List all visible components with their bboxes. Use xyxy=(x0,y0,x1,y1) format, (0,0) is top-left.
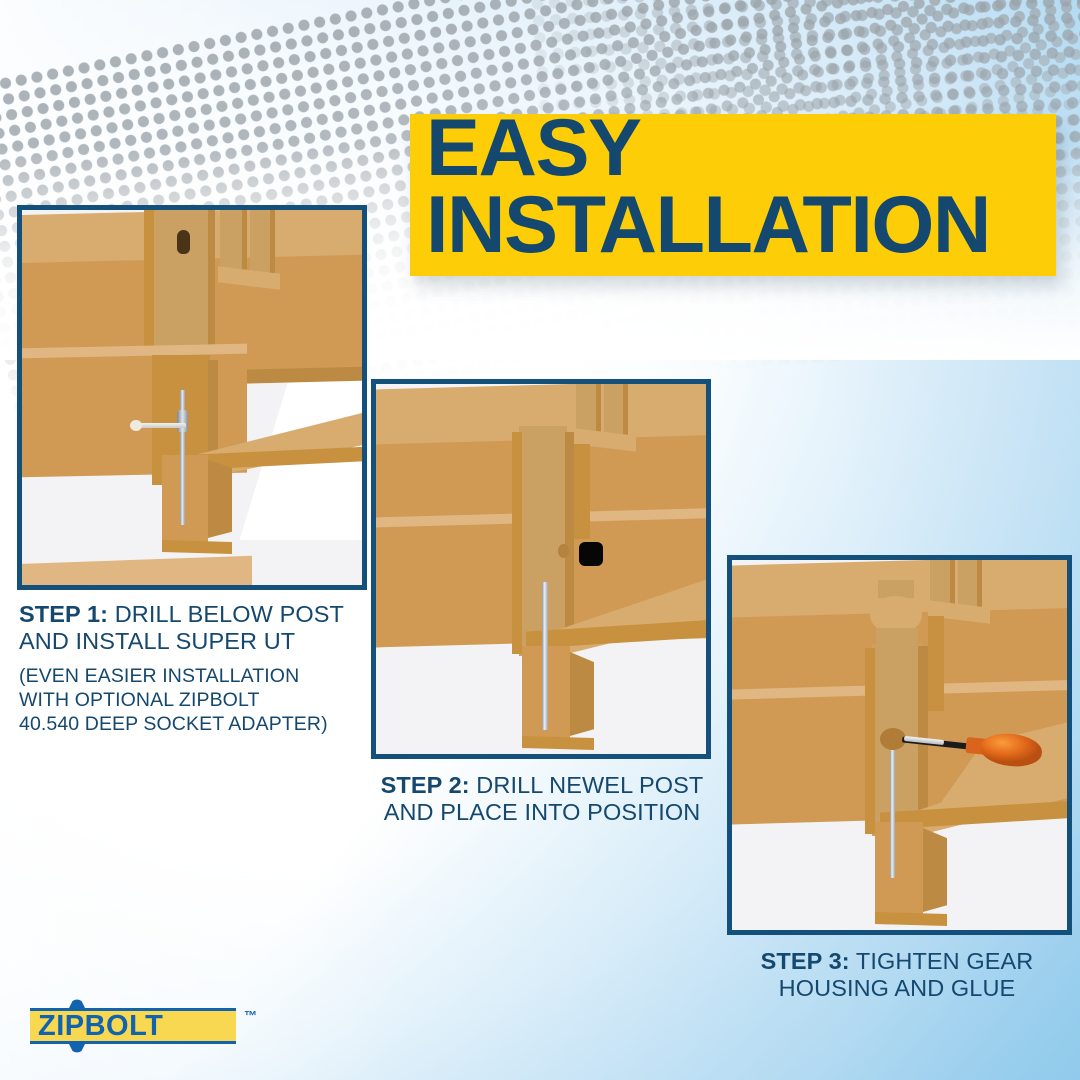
bolt-head-icon-top xyxy=(66,999,88,1010)
step-3-caption-main: STEP 3: TIGHTEN GEAR HOUSING AND GLUE xyxy=(712,948,1080,1003)
page-title: EASY INSTALLATION xyxy=(426,110,1066,264)
step-2-caption-main: STEP 2: DRILL NEWEL POST AND PLACE INTO … xyxy=(358,772,726,827)
illustration-step-1 xyxy=(22,210,362,585)
zipbolt-logo: ZIPBOLT ™ xyxy=(30,1000,266,1052)
step-3-label: STEP 3: xyxy=(761,948,850,974)
step-1-caption-main: STEP 1: DRILL BELOW POST AND INSTALL SUP… xyxy=(19,601,369,656)
step-3-caption: STEP 3: TIGHTEN GEAR HOUSING AND GLUE xyxy=(712,948,1080,1003)
step-2-label: STEP 2: xyxy=(381,772,470,798)
illustration-step-3 xyxy=(732,560,1067,930)
step-2-caption: STEP 2: DRILL NEWEL POST AND PLACE INTO … xyxy=(358,772,726,827)
step-2-image xyxy=(371,379,711,759)
step-1-label: STEP 1: xyxy=(19,601,108,627)
step-1-caption-sub: (EVEN EASIER INSTALLATION WITH OPTIONAL … xyxy=(19,665,369,736)
step-3-image xyxy=(727,555,1072,935)
step-1-caption: STEP 1: DRILL BELOW POST AND INSTALL SUP… xyxy=(19,601,369,736)
illustration-step-2 xyxy=(376,384,706,754)
logo-wordmark: ZIPBOLT xyxy=(38,1010,238,1042)
logo-trademark: ™ xyxy=(244,1008,257,1023)
headline-banner: EASY INSTALLATION xyxy=(410,114,1056,276)
bolt-head-icon-bottom xyxy=(66,1042,88,1053)
step-1-image xyxy=(17,205,367,590)
poster-canvas: EASY INSTALLATION xyxy=(0,0,1080,1080)
